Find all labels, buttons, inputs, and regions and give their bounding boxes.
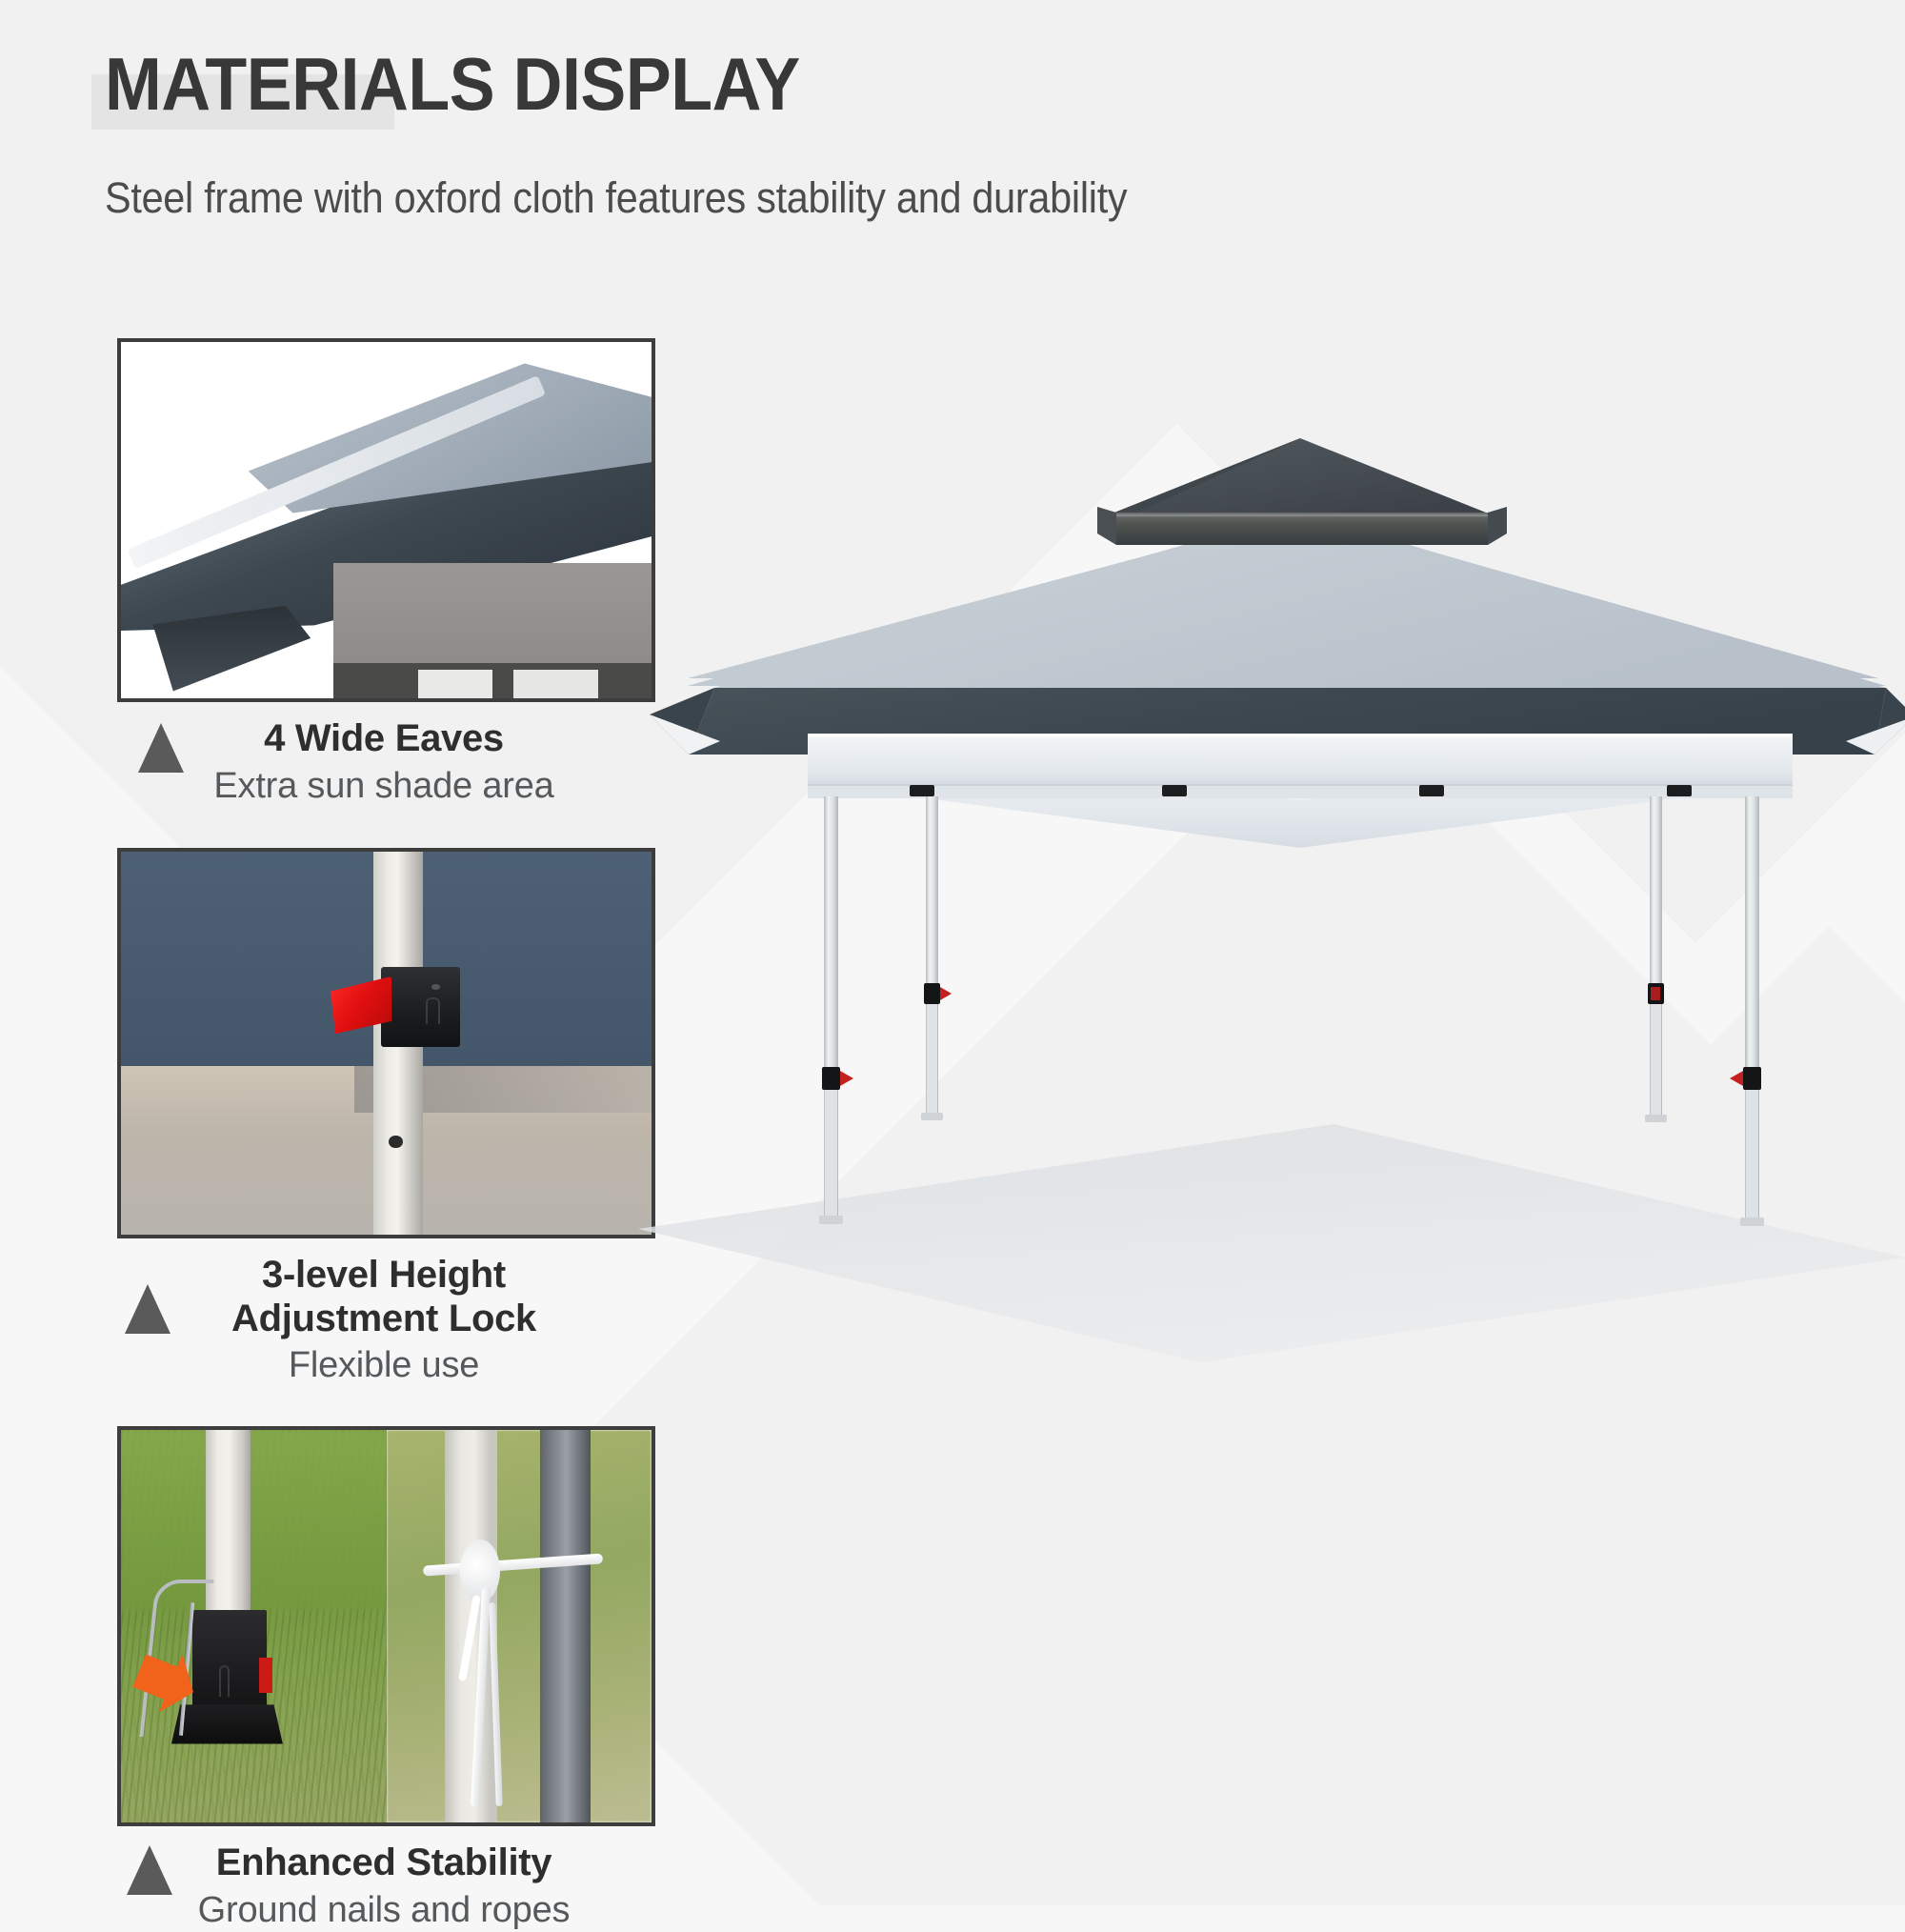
valance-clip (1419, 785, 1444, 796)
feature-subtext: Ground nails and ropes (117, 1889, 651, 1932)
header: MATERIALS DISPLAY Steel frame with oxfor… (105, 46, 1438, 223)
feature-enhanced-stability: Enhanced Stability Ground nails and rope… (117, 1426, 651, 1932)
leg-lock-lever (1730, 1071, 1743, 1086)
valance-clip (1667, 785, 1692, 796)
leg-lock-lever (940, 987, 952, 1000)
valance-clip (1162, 785, 1187, 796)
lock-housing (381, 967, 461, 1047)
leg-foot (1740, 1218, 1764, 1226)
valance-underside (808, 785, 1793, 798)
leg-lock-lever (840, 1071, 853, 1086)
feature-photo-enhanced-stability (117, 1426, 655, 1826)
product-illustration (533, 400, 1905, 1477)
valance-body (808, 734, 1793, 785)
pole-adjustment-hole (389, 1136, 402, 1149)
leg-foot (819, 1216, 843, 1224)
leg-foot (1645, 1115, 1667, 1122)
roof-vent-band (1116, 513, 1488, 545)
leg-lock-collar (822, 1067, 840, 1090)
feature-heading: Enhanced Stability (117, 1841, 651, 1885)
roof-vent-band-left (1097, 507, 1116, 545)
feature-caption-enhanced-stability: Enhanced Stability Ground nails and rope… (117, 1826, 651, 1932)
triangle-marker-icon (127, 1845, 172, 1895)
roof-vent-band-right (1488, 507, 1507, 545)
dark-post (540, 1430, 591, 1822)
triangle-marker-icon (138, 723, 184, 773)
page-subtitle: Steel frame with oxford cloth features s… (105, 173, 1332, 223)
page-title-wrap: MATERIALS DISPLAY (105, 46, 860, 124)
valance-clip (910, 785, 934, 796)
leg-lock-collar (1743, 1067, 1761, 1090)
triangle-marker-icon (125, 1284, 170, 1334)
photo-half-rope (387, 1430, 652, 1822)
leg-lock-collar (924, 983, 940, 1004)
roof-vent-cap (1114, 438, 1486, 513)
page-title: MATERIALS DISPLAY (105, 46, 800, 124)
photo-half-ground-nail (121, 1430, 387, 1822)
leg-lock-lever (1651, 987, 1660, 1000)
leg-foot (921, 1113, 943, 1120)
